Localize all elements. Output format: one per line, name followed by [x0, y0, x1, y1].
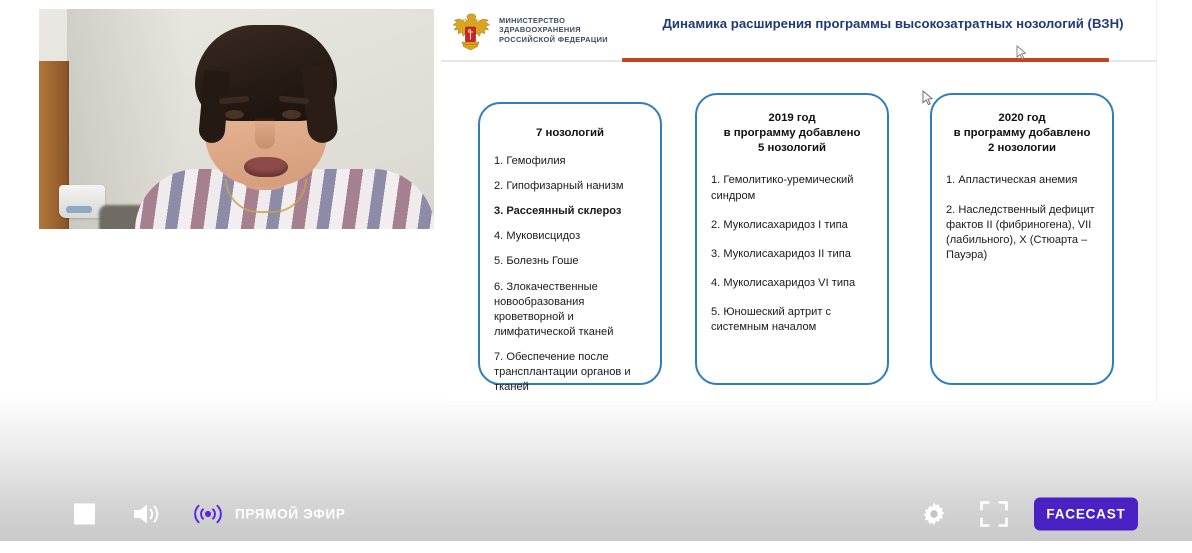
speaker-video[interactable] [39, 9, 434, 229]
list-item: 3. Муколисахаридоз II типа [711, 247, 877, 262]
presentation-slide[interactable]: МИНИСТЕРСТВО ЗДРАВООХРАНЕНИЯ РОССИЙСКОЙ … [441, 0, 1157, 401]
list-item: 6. Злокачественные новообразования крове… [494, 280, 648, 340]
list-item: 4. Муковисцидоз [494, 229, 648, 244]
live-status-label: ПРЯМОЙ ЭФИР [235, 507, 346, 522]
video-person-mouth [244, 157, 288, 177]
slide-title: Динамика расширения программы высокозатр… [637, 16, 1149, 31]
nosology-list: 1. Гемофилия 2. Гипофизарный нанизм 3. Р… [494, 154, 648, 395]
video-person-eye-right [282, 110, 301, 119]
gear-icon[interactable] [921, 501, 947, 527]
list-item: 3. Рассеянный склероз [494, 204, 648, 219]
facecast-brand-button[interactable]: FACECAST [1034, 498, 1138, 531]
nosology-box-current[interactable]: 7 нозологий 1. Гемофилия 2. Гипофизарный… [478, 102, 662, 385]
nosology-box-2020[interactable]: 2020 годв программу добавлено2 нозологии… [930, 93, 1114, 385]
nosology-box-2019[interactable]: 2019 годв программу добавлено5 нозологий… [695, 93, 889, 385]
box-title: 2019 годв программу добавлено5 нозологий [705, 111, 879, 156]
list-item: 7. Обеспечение после трансплантации орга… [494, 350, 648, 395]
slide-content: 7 нозологий 1. Гемофилия 2. Гипофизарный… [441, 86, 1157, 386]
slide-header: МИНИСТЕРСТВО ЗДРАВООХРАНЕНИЯ РОССИЙСКОЙ … [441, 0, 1157, 62]
live-broadcast-icon[interactable] [193, 502, 223, 526]
mouse-cursor-secondary [1016, 45, 1027, 60]
nosology-list: 1. Гемолитико-уремический синдром 2. Мук… [711, 173, 877, 335]
list-item: 2. Гипофизарный нанизм [494, 179, 648, 194]
box-title: 2020 годв программу добавлено2 нозологии [940, 111, 1104, 156]
box-title: 7 нозологий [488, 126, 652, 141]
player-controls: ПРЯМОЙ ЭФИР FACECAST [0, 487, 1192, 541]
ministry-line-1: МИНИСТЕРСТВО [499, 16, 608, 25]
ministry-line-2: ЗДРАВООХРАНЕНИЯ [499, 25, 608, 34]
header-accent-rule [622, 58, 1109, 62]
list-item: 5. Болезнь Гоше [494, 254, 648, 269]
ministry-name: МИНИСТЕРСТВО ЗДРАВООХРАНЕНИЯ РОССИЙСКОЙ … [499, 16, 608, 44]
video-person-hair [195, 25, 337, 121]
list-item: 1. Апластическая анемия [946, 173, 1104, 188]
video-person-nose [255, 117, 275, 149]
ministry-line-3: РОССИЙСКОЙ ФЕДЕРАЦИИ [499, 35, 608, 44]
list-item: 5. Юношеский артрит с системным началом [711, 305, 877, 335]
player-stage: МИНИСТЕРСТВО ЗДРАВООХРАНЕНИЯ РОССИЙСКОЙ … [0, 0, 1192, 553]
list-item: 1. Гемолитико-уремический синдром [711, 173, 877, 203]
list-item: 4. Муколисахаридоз VI типа [711, 276, 877, 291]
list-item: 2. Муколисахаридоз I типа [711, 218, 877, 233]
nosology-list: 1. Апластическая анемия 2. Наследственны… [946, 173, 1104, 262]
stop-icon[interactable] [74, 504, 95, 525]
mouse-cursor [922, 90, 934, 106]
video-person-eye-left [225, 110, 244, 119]
fullscreen-icon[interactable] [979, 500, 1009, 528]
list-item: 2. Наследственный дефицит фактов II (фиб… [946, 203, 1104, 263]
list-item: 1. Гемофилия [494, 154, 648, 169]
ministry-emblem-icon [448, 8, 493, 56]
volume-icon[interactable] [132, 502, 162, 526]
